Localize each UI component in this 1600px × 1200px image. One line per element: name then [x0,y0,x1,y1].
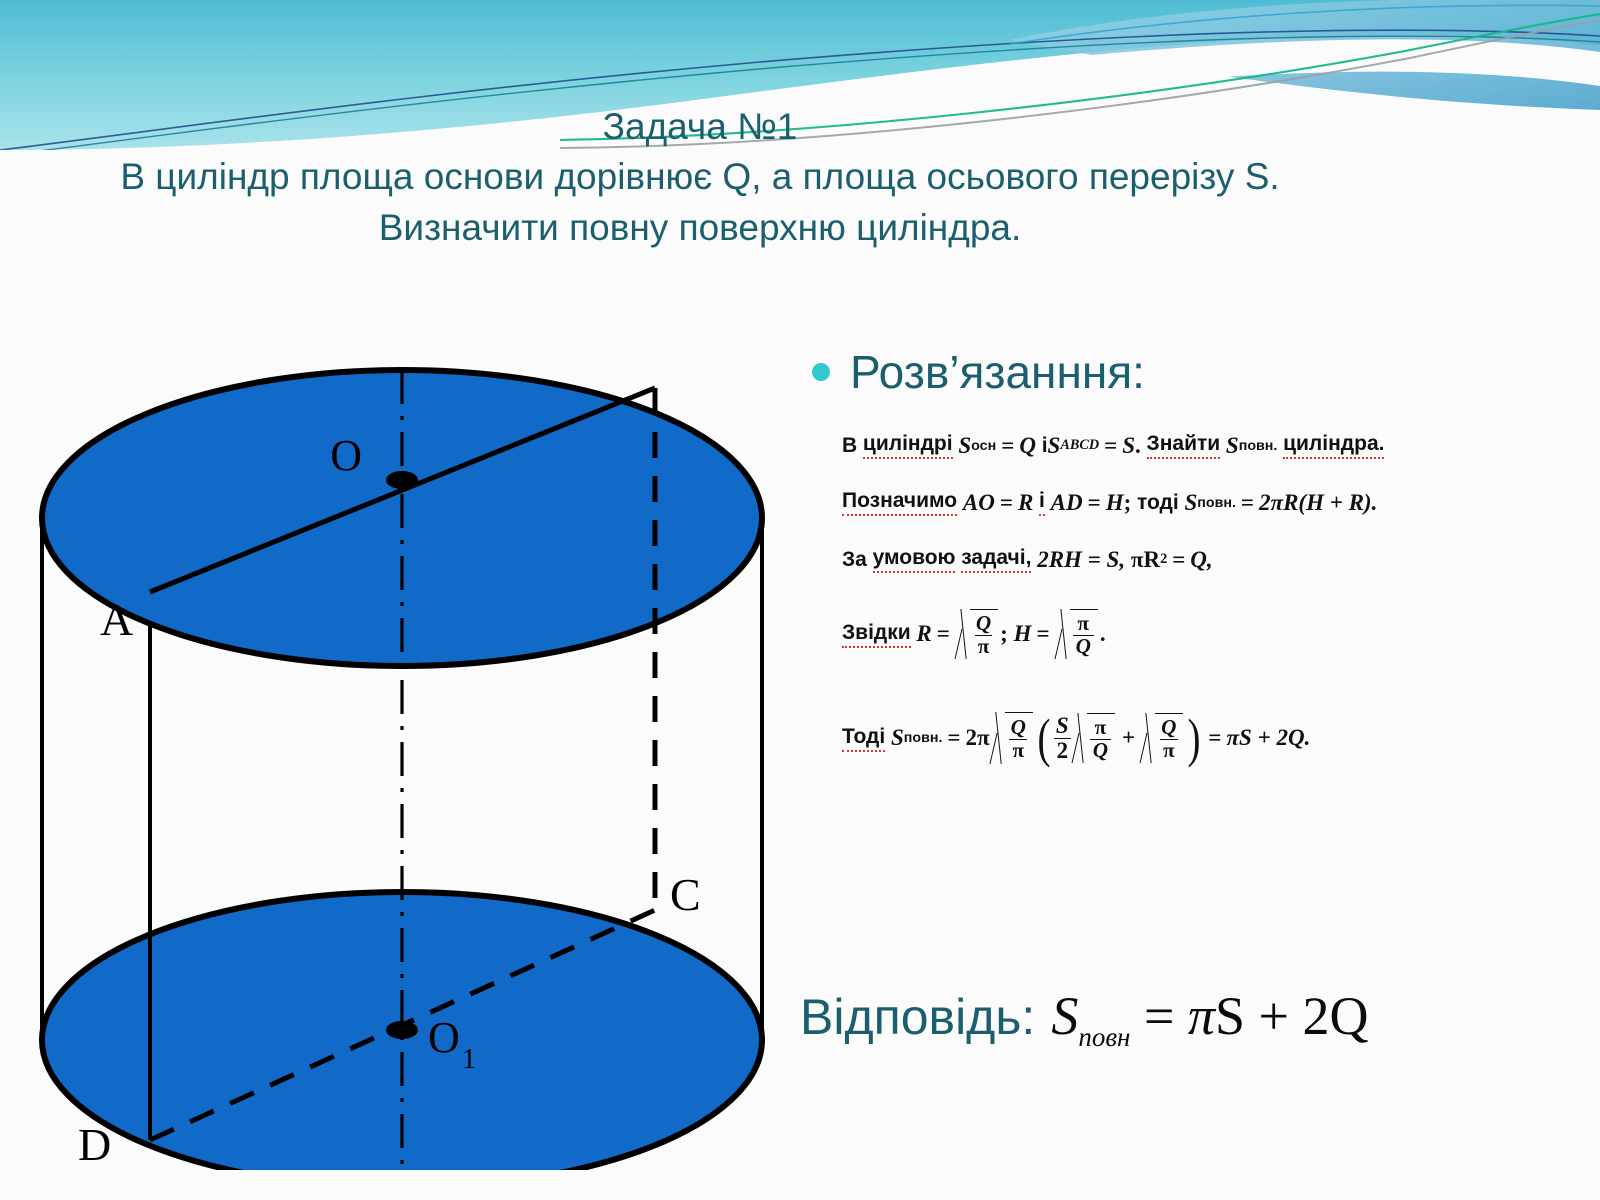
close-paren: ) [1188,719,1201,758]
radical-body: π Q [1070,609,1098,659]
math-line-notation: Позначимо AO = R і AD = H; тоді Sповн. =… [842,489,1542,516]
solution-heading: Розв’язанння: [812,345,1145,399]
derive-eq-2: = [1031,621,1054,647]
notation-h: H [1106,490,1124,516]
given-s-value: S [1122,433,1135,459]
answer-row: Відповідь: Sповн = πS + 2Q [800,985,1368,1053]
condition-eq: = [1167,547,1190,573]
given-q: Q [1019,433,1036,459]
notation-s: S [1184,490,1197,516]
given-s-povn: S [1226,433,1239,459]
label-a: A [100,594,133,645]
answer-label: Відповідь: [800,988,1035,1046]
notation-then: тоді [1137,491,1179,515]
thin-line-cyan [1010,5,1600,44]
result-eq-1: = [942,725,965,751]
notation-s-sub: повн. [1197,495,1236,511]
given-word-cylinder: циліндрі [863,432,953,459]
result-radical-3: Q π [1142,713,1183,763]
answer-plus: + [1259,986,1289,1046]
label-o: O [330,431,362,480]
given-eq-1: = [996,433,1019,459]
notation-semicolon: ; [1124,490,1132,516]
condition-q: Q, [1190,547,1212,573]
fraction-s-over-2: S 2 [1053,714,1072,762]
derive-radical-2: π Q [1057,609,1098,659]
given-s-osn: S [958,433,971,459]
notation-eq-1: = [995,490,1018,516]
radical-body: Q π [1005,712,1033,764]
fraction-numerator: π [1074,613,1092,635]
answer-pi: π [1188,986,1215,1046]
answer-two-q: 2Q [1302,986,1368,1046]
notation-ad: AD [1051,490,1083,516]
fraction-numerator: Q [973,613,994,635]
notation-eq-2: = [1083,490,1106,516]
title-statement-line-1: В циліндр площа основи дорівнює Q, а пло… [80,152,1320,202]
center-point-o [386,471,418,489]
result-rhs: πS + 2Q. [1227,725,1311,751]
fraction-pi-over-q: π Q [1090,717,1111,761]
page-title: Задача №1 В циліндр площа основи дорівню… [80,102,1320,253]
result-coefficient: 2π [966,725,990,751]
notation-ao: AO [963,490,995,516]
fraction-denominator: π [1009,739,1027,762]
radical-sign [1057,609,1070,659]
slide-root: Задача №1 В циліндр площа основи дорівню… [0,0,1600,1200]
given-period: . [1135,433,1141,459]
label-o1-subscript: 1 [462,1044,476,1075]
given-s-abcd: S [1048,433,1061,459]
radical-body: π Q [1087,713,1115,763]
derive-eq-1: = [932,621,955,647]
label-o1: O [428,1013,460,1062]
solution-heading-label: Розв’язанння: [850,345,1145,399]
solution-math-block: В циліндрі Sосн = Q і SABCD = S. Знайти … [842,432,1542,771]
given-find-word: Знайти [1147,432,1221,459]
label-d: D [78,1119,111,1170]
given-word-v: В [842,434,857,458]
math-line-given: В циліндрі Sосн = Q і SABCD = S. Знайти … [842,432,1542,459]
fraction-pi-over-q: π Q [1073,613,1094,657]
derive-lead: Звідки [842,621,911,648]
notation-lead: Позначимо [842,489,957,516]
result-radical-1: Q π [992,712,1033,764]
given-tail-word: циліндра. [1283,432,1384,459]
condition-exponent: 2 [1160,551,1167,568]
given-s-osn-sub: осн [971,438,996,454]
fraction-denominator: π [975,635,993,658]
derive-period: . [1100,621,1106,647]
math-line-derive: Звідки R = Q π ; H = π [842,603,1542,665]
notation-r: R [1018,490,1033,516]
fraction-denominator: Q [1090,739,1111,762]
fraction-numerator: S [1053,714,1072,737]
fraction-numerator: Q [1008,717,1029,739]
fraction-q-over-pi: Q π [973,613,994,657]
label-c: C [670,869,701,920]
given-s-povn-sub: повн. [1239,438,1278,454]
fraction-numerator: π [1092,717,1110,739]
condition-pi: π [1131,547,1144,573]
result-s-sub: повн. [904,730,943,746]
answer-s-subscript: повн [1078,1022,1130,1052]
condition-r: R [1143,547,1160,573]
answer-s2: S [1215,986,1245,1046]
fraction-denominator: π [1160,739,1178,762]
bullet-icon [812,363,830,381]
condition-expr-1: 2RH = S, [1037,547,1125,573]
title-statement-line-2: Визначити повну поверхню циліндра. [80,203,1320,253]
blue-band [1010,0,1600,110]
math-line-condition: За умовою задачі, 2RH = S, πR2 = Q, [842,546,1542,573]
answer-formula: Sповн = πS + 2Q [1051,985,1368,1053]
notation-rhs: 2πR(H + R). [1259,490,1377,516]
fraction-numerator: Q [1158,717,1179,739]
radical-sign [1142,713,1155,763]
result-plus: + [1117,725,1140,751]
notation-conj: і [1039,489,1045,516]
fraction-q-over-pi: Q π [1158,717,1179,761]
given-eq-2: = [1099,433,1122,459]
condition-lead-2: умовою [873,546,956,573]
math-line-result: Тоді Sповн. = 2π Q π ( S 2 [842,705,1542,771]
result-lead: Тоді [842,725,885,752]
result-s: S [891,725,904,751]
open-paren: ( [1037,719,1050,758]
fraction-q-over-pi: Q π [1008,717,1029,761]
radical-sign [1074,713,1087,763]
answer-equals: = [1144,986,1174,1046]
fraction-denominator: Q [1073,635,1094,658]
radical-sign [957,609,970,659]
result-eq-2: = [1203,725,1226,751]
title-heading: Задача №1 [80,102,1320,152]
condition-lead-3: задачі, [961,546,1031,573]
cylinder-svg: O O 1 A C D [10,330,800,1170]
result-radical-2: π Q [1074,713,1115,763]
cylinder-figure: O O 1 A C D [10,330,800,1170]
fraction-denominator: 2 [1054,738,1072,762]
answer-s: S [1051,986,1078,1046]
condition-lead-1: За [842,548,867,572]
derive-r: R [916,621,931,647]
notation-eq-3: = [1236,490,1259,516]
given-s-abcd-sub: ABCD [1060,437,1099,454]
derive-radical-1: Q π [957,609,998,659]
radical-body: Q π [1155,713,1183,763]
radical-sign [992,712,1005,764]
derive-h: H [1014,621,1032,647]
radical-body: Q π [970,609,998,659]
center-point-o1 [386,1021,418,1039]
derive-semicolon: ; [1000,621,1008,647]
